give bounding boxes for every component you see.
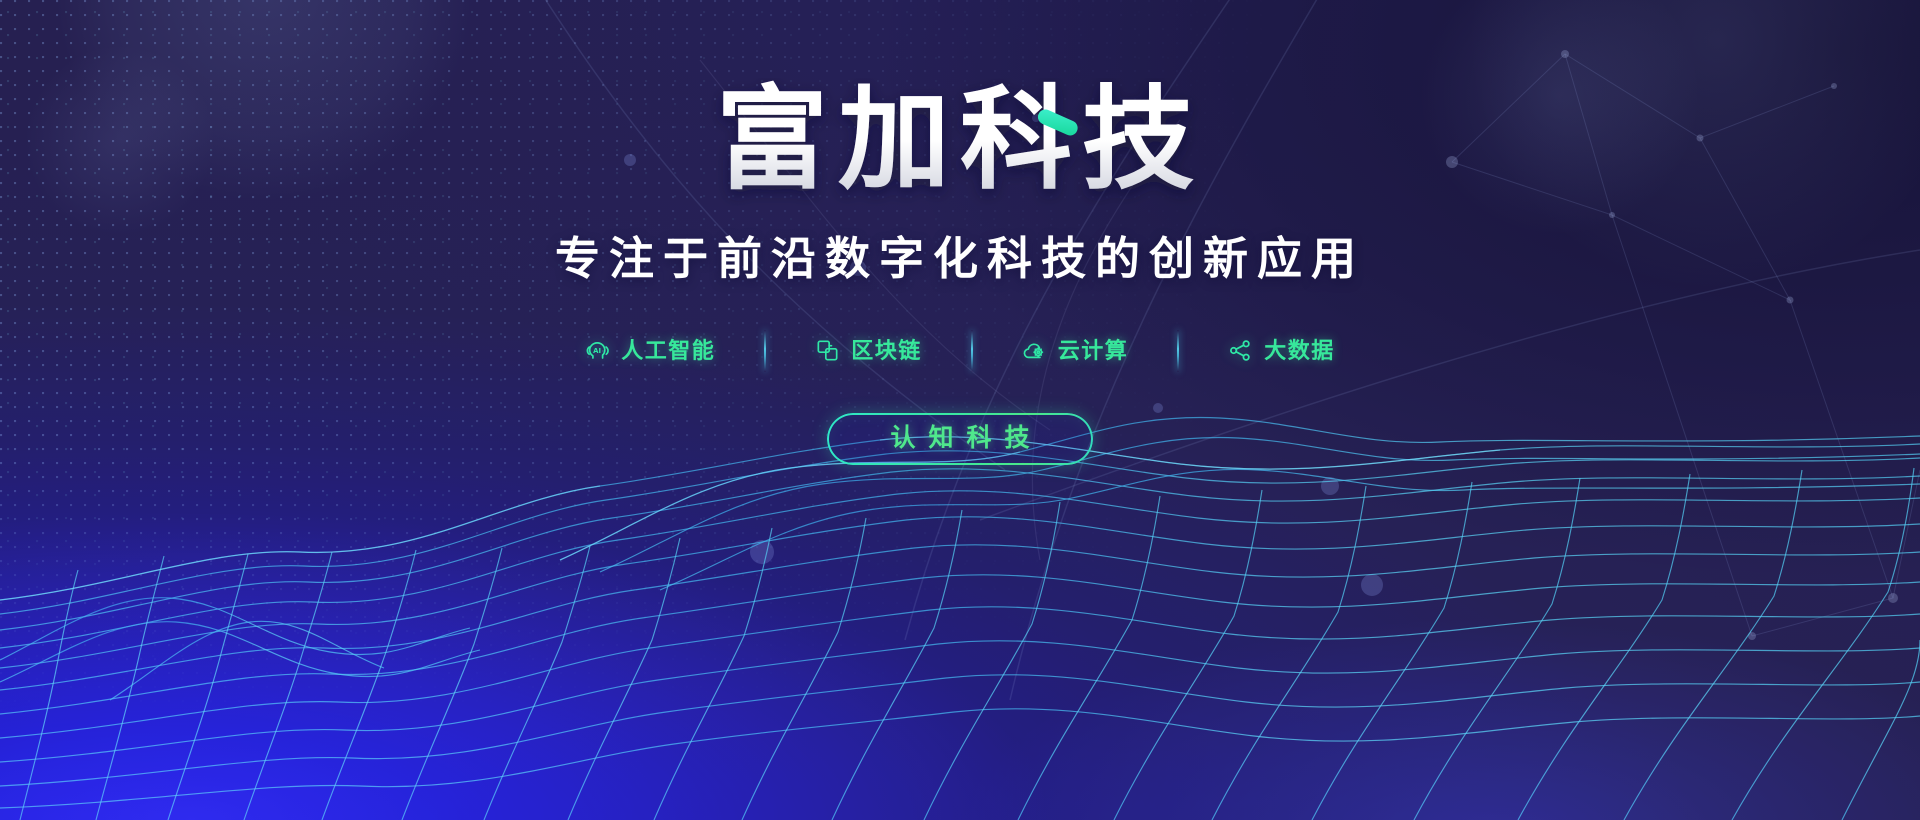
hero-subtitle: 专注于前沿数字化科技的创新应用 — [555, 234, 1365, 284]
brand-logo-text: 富加科技 — [716, 78, 1204, 205]
cloud-gear-icon — [1022, 338, 1047, 363]
feature-tag-label: 大数据 — [1264, 340, 1335, 362]
blockchain-icon — [815, 338, 840, 363]
feature-tag-list: AI 人工智能 区块链 — [583, 331, 1337, 371]
brand-logo-wordmark: 富加科技 — [680, 78, 1240, 206]
feature-tag-cloud[interactable]: 云计算 — [1020, 338, 1131, 363]
feature-divider — [1177, 330, 1179, 372]
feature-divider — [971, 330, 973, 372]
hero-banner: 富加科技 专注于前沿数字化科技的创新应用 AI 人工 — [0, 0, 1920, 820]
feature-tag-ai[interactable]: AI 人工智能 — [583, 338, 717, 363]
brand-logo: 富加科技 — [680, 78, 1240, 206]
feature-tag-label: 人工智能 — [621, 340, 715, 362]
feature-tag-blockchain[interactable]: 区块链 — [813, 338, 924, 363]
share-nodes-icon — [1228, 338, 1253, 363]
feature-tag-label: 区块链 — [851, 340, 922, 362]
feature-tag-label: 云计算 — [1058, 340, 1129, 362]
cognitive-tech-button[interactable]: 认知科技 — [827, 413, 1093, 465]
svg-text:AI: AI — [593, 347, 601, 355]
feature-divider — [764, 330, 766, 372]
cognitive-tech-button-label: 认知科技 — [877, 426, 1042, 451]
feature-tag-bigdata[interactable]: 大数据 — [1226, 338, 1337, 363]
ai-head-icon: AI — [585, 338, 610, 363]
